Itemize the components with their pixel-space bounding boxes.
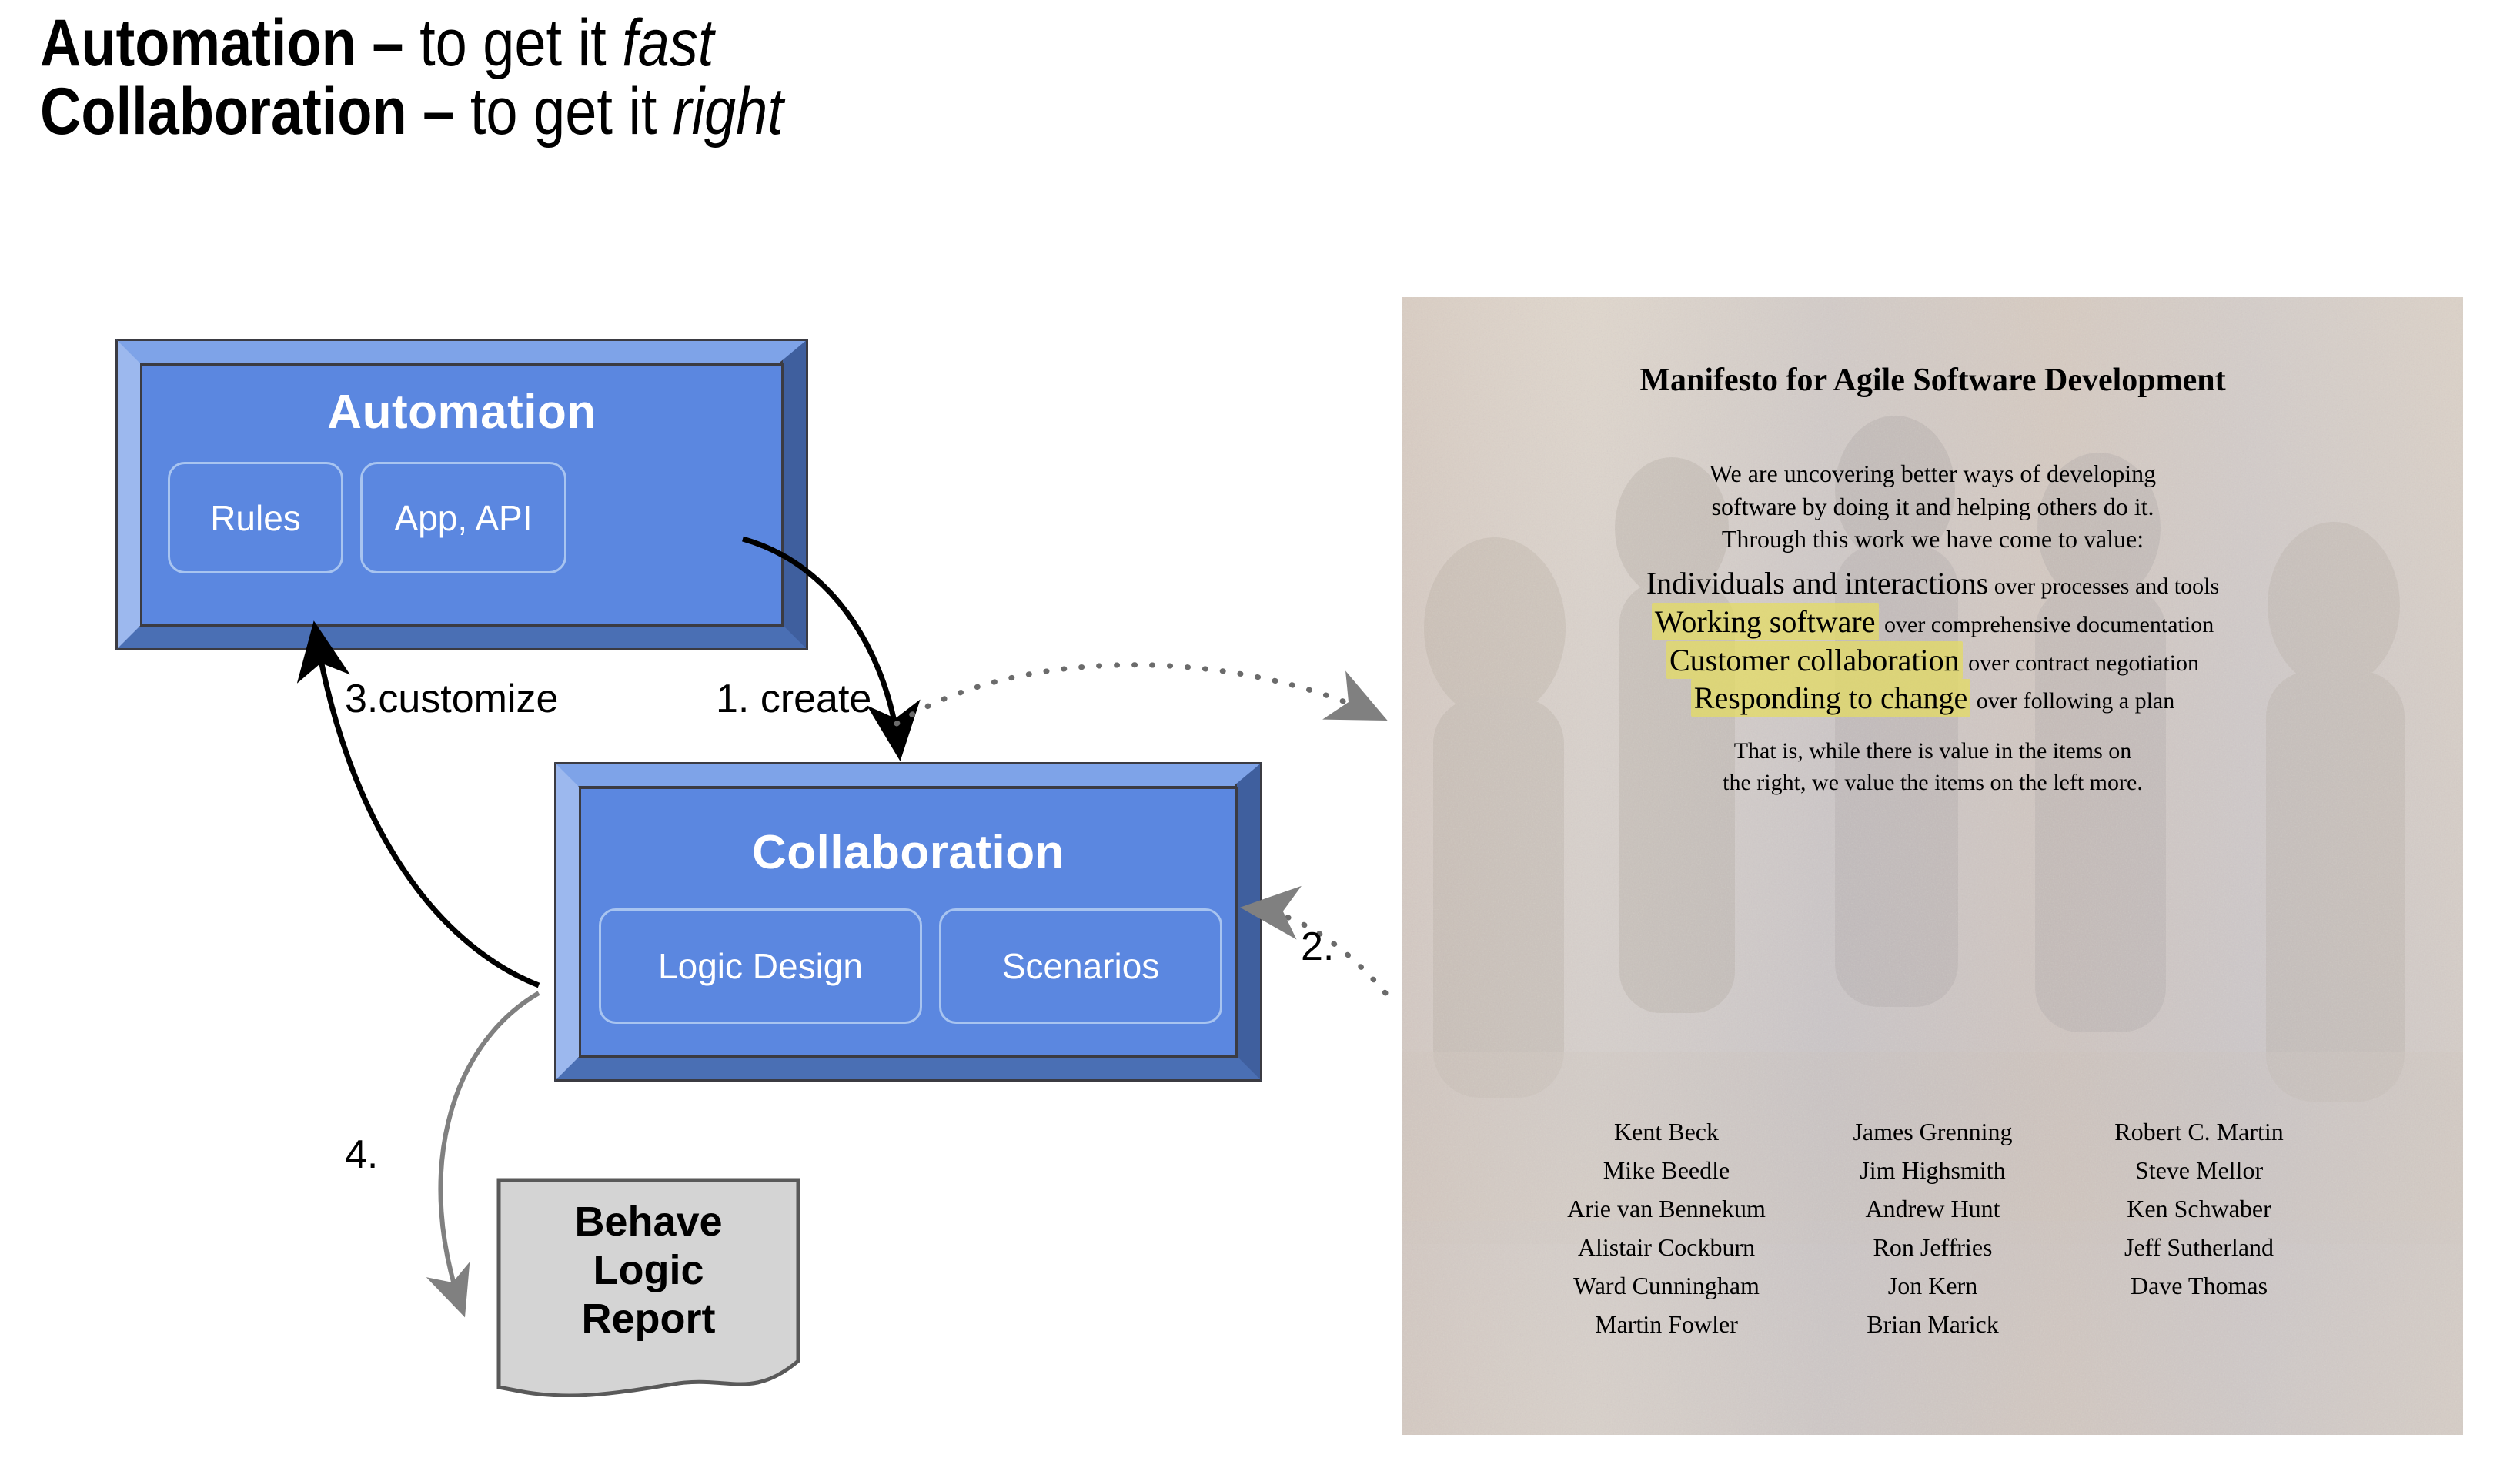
signatory-name: Robert C. Martin [2087,1113,2311,1152]
title-line-1-regular: to get it [404,6,623,80]
chip-logic-design-label: Logic Design [658,945,863,987]
signatory-column-2: James Grenning Jim Highsmith Andrew Hunt… [1821,1113,2044,1343]
agile-manifesto-panel[interactable]: Manifesto for Agile Software Development… [1402,297,2463,1435]
chip-rules[interactable]: Rules [168,462,343,573]
step-label-2: 2. [1301,924,1334,970]
page-title: Automation – to get it fast Collaboratio… [40,9,1579,145]
automation-box[interactable]: Automation Rules App, API [115,339,808,650]
report-label-line2: Logic [496,1246,800,1295]
signatory-name: Steve Mellor [2087,1152,2311,1190]
title-line-2-regular: to get it [454,75,673,149]
arrow-2-out-dotted [897,665,1378,724]
signatory-name: Arie van Bennekum [1555,1190,1778,1229]
signatory-name: Kent Beck [1555,1113,1778,1152]
signatory-name: Alistair Cockburn [1555,1229,1778,1267]
chip-scenarios[interactable]: Scenarios [939,908,1222,1024]
manifesto-value-3-right: over contract negotiation [1963,650,2199,676]
signatory-name: Jeff Sutherland [2087,1229,2311,1267]
chip-rules-label: Rules [210,497,301,539]
title-line-2-italic: right [673,75,784,149]
signatory-name: James Grenning [1821,1113,2044,1152]
signatory-name: Mike Beedle [1555,1152,1778,1190]
signatory-name: Martin Fowler [1555,1306,1778,1344]
signatory-column-3: Robert C. Martin Steve Mellor Ken Schwab… [2087,1113,2311,1343]
manifesto-intro-line-1: We are uncovering better ways of develop… [1402,457,2463,490]
collaboration-box-title: Collaboration [554,825,1262,880]
signatory-name: Ron Jeffries [1821,1229,2044,1267]
manifesto-value-1-right: over processes and tools [1988,573,2219,599]
manifesto-value-1: Individuals and interactions over proces… [1402,567,2463,601]
title-line-1: Automation – to get it fast [40,9,1364,78]
manifesto-intro-line-2: software by doing it and helping others … [1402,490,2463,523]
manifesto-content: Manifesto for Agile Software Development… [1402,297,2463,1435]
title-line-2-bold: Collaboration – [40,75,454,149]
manifesto-signatories: Kent Beck Mike Beedle Arie van Bennekum … [1402,1113,2463,1343]
manifesto-value-3-left: Customer collaboration [1666,641,1963,679]
manifesto-value-3: Customer collaboration over contract neg… [1402,644,2463,678]
behave-logic-report-shape[interactable]: Behave Logic Report [496,1178,800,1397]
chip-logic-design[interactable]: Logic Design [599,908,922,1024]
step-label-3: 3.customize [345,676,558,722]
bevel-right [1235,762,1262,1082]
signatory-name: Andrew Hunt [1821,1190,2044,1229]
signatory-name: Jon Kern [1821,1267,2044,1306]
manifesto-value-1-left: Individuals and interactions [1646,566,1988,600]
bevel-bottom [115,624,808,650]
manifesto-value-2: Working software over comprehensive docu… [1402,605,2463,640]
collaboration-box[interactable]: Collaboration Logic Design Scenarios [554,762,1262,1082]
manifesto-title: Manifesto for Agile Software Development [1402,362,2463,399]
manifesto-intro-line-3: Through this work we have come to value: [1402,523,2463,556]
manifesto-value-4-right: over following a plan [1970,688,2174,714]
chip-app-api-label: App, API [394,497,532,539]
manifesto-value-4: Responding to change over following a pl… [1402,681,2463,716]
manifesto-value-4-left: Responding to change [1691,679,1971,717]
signatory-name: Dave Thomas [2087,1267,2311,1306]
title-line-2: Collaboration – to get it right [40,78,1364,146]
signatory-column-1: Kent Beck Mike Beedle Arie van Bennekum … [1555,1113,1778,1343]
manifesto-value-2-left: Working software [1652,603,1879,640]
signatory-name: Jim Highsmith [1821,1152,2044,1190]
manifesto-closing: That is, while there is value in the ite… [1402,736,2463,798]
manifesto-values: Individuals and interactions over proces… [1402,567,2463,720]
bevel-top [115,339,808,365]
report-label-line3: Report [496,1295,800,1343]
chip-scenarios-label: Scenarios [1002,945,1160,987]
step-label-4: 4. [345,1132,378,1178]
bevel-bottom [554,1055,1262,1082]
chip-app-api[interactable]: App, API [360,462,566,573]
title-line-1-italic: fast [622,6,714,80]
signatory-name: Brian Marick [1821,1306,2044,1344]
bevel-left [554,762,582,1082]
title-line-1-bold: Automation – [40,6,404,80]
report-label-line1: Behave [496,1198,800,1246]
bevel-top [554,762,1262,788]
manifesto-closing-line-1: That is, while there is value in the ite… [1402,736,2463,767]
automation-box-title: Automation [115,385,808,440]
step-label-1: 1. create [716,676,871,722]
signatory-name: Ken Schwaber [2087,1190,2311,1229]
manifesto-closing-line-2: the right, we value the items on the lef… [1402,767,2463,799]
report-label: Behave Logic Report [496,1198,800,1344]
signatory-name: Ward Cunningham [1555,1267,1778,1306]
manifesto-intro: We are uncovering better ways of develop… [1402,457,2463,556]
manifesto-value-2-right: over comprehensive documentation [1879,612,2214,637]
